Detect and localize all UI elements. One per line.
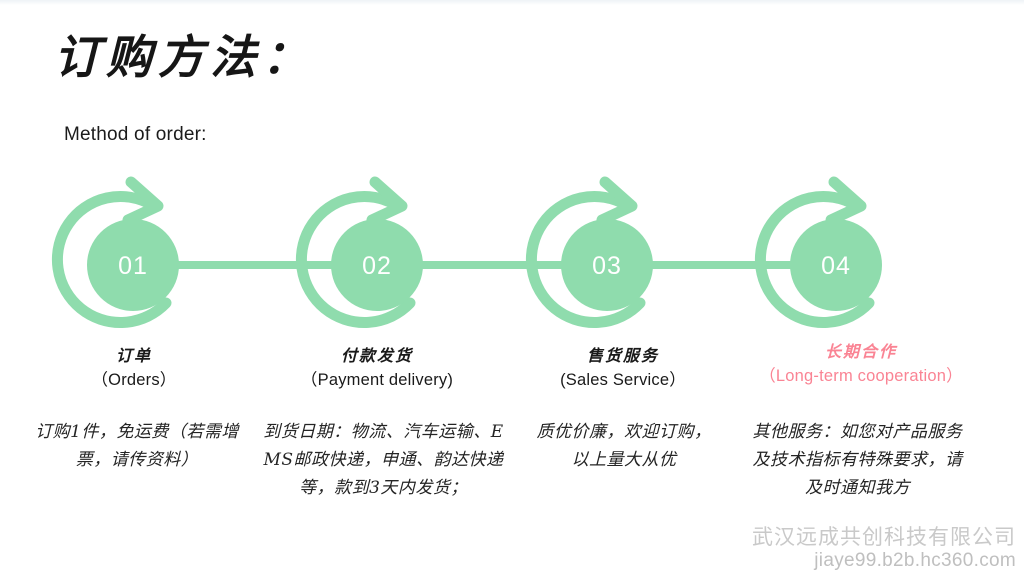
step-column-01: 订单 （Orders）	[18, 346, 250, 391]
step-number-04: 04	[821, 252, 851, 280]
step-column-02: 付款发货 （Payment delivery)	[258, 346, 496, 391]
step-label-cn-01: 订单	[18, 346, 250, 366]
step-number-03: 03	[592, 252, 622, 280]
step-label-cn-03: 售货服务	[508, 346, 738, 366]
step-body-wrap-04: 其他服务：如您对产品服务及技术指标有特殊要求，请及时通知我方	[750, 418, 965, 502]
slide-root: 订购方法： Method of order: 01	[0, 0, 1024, 576]
watermark-url: jiaye99.b2b.hc360.com	[752, 550, 1016, 572]
step-column-04: 长期合作 （Long-term cooperation）	[716, 342, 1006, 387]
step-body-text-03: 质优价廉，欢迎订购，以上量大从优	[529, 418, 719, 474]
step-body-text-01: 订购1件，免运费（若需增票，请传资料）	[34, 418, 240, 474]
process-diagram: 01 02 03 04	[0, 170, 1024, 335]
step-number-01: 01	[118, 252, 148, 280]
step-label-en-01: （Orders）	[18, 369, 250, 391]
step-label-cn-02: 付款发货	[258, 346, 496, 366]
step-label-cn-04: 长期合作	[716, 342, 1006, 362]
step-body-text-02: 到货日期：物流、汽车运输、EMS邮政快递，申通、韵达快递等，款到3天内发货；	[262, 418, 505, 502]
step-column-03: 售货服务 (Sales Service）	[508, 346, 738, 391]
step-circle-03: 03	[531, 182, 653, 323]
step-label-en-02: （Payment delivery)	[258, 369, 496, 391]
page-title-cn: 订购方法：	[54, 34, 314, 80]
step-label-en-04: （Long-term cooperation）	[716, 365, 1006, 387]
watermark-company: 武汉远成共创科技有限公司	[752, 526, 1016, 550]
step-label-en-03: (Sales Service）	[508, 369, 738, 391]
step-number-02: 02	[362, 252, 392, 280]
connector-lines	[133, 261, 836, 269]
step-body-wrap-03: 质优价廉，欢迎订购，以上量大从优	[529, 418, 719, 474]
step-circle-04: 04	[760, 182, 882, 323]
top-edge-tint	[0, 0, 1024, 5]
page-title-en: Method of order:	[64, 124, 207, 146]
watermark: 武汉远成共创科技有限公司 jiaye99.b2b.hc360.com	[752, 526, 1016, 572]
step-circle-02: 02	[301, 182, 423, 323]
step-circle-01: 01	[57, 182, 179, 323]
step-body-wrap-02: 到货日期：物流、汽车运输、EMS邮政快递，申通、韵达快递等，款到3天内发货；	[262, 418, 505, 502]
step-body-text-04: 其他服务：如您对产品服务及技术指标有特殊要求，请及时通知我方	[750, 418, 965, 502]
step-body-wrap-01: 订购1件，免运费（若需增票，请传资料）	[34, 418, 240, 474]
